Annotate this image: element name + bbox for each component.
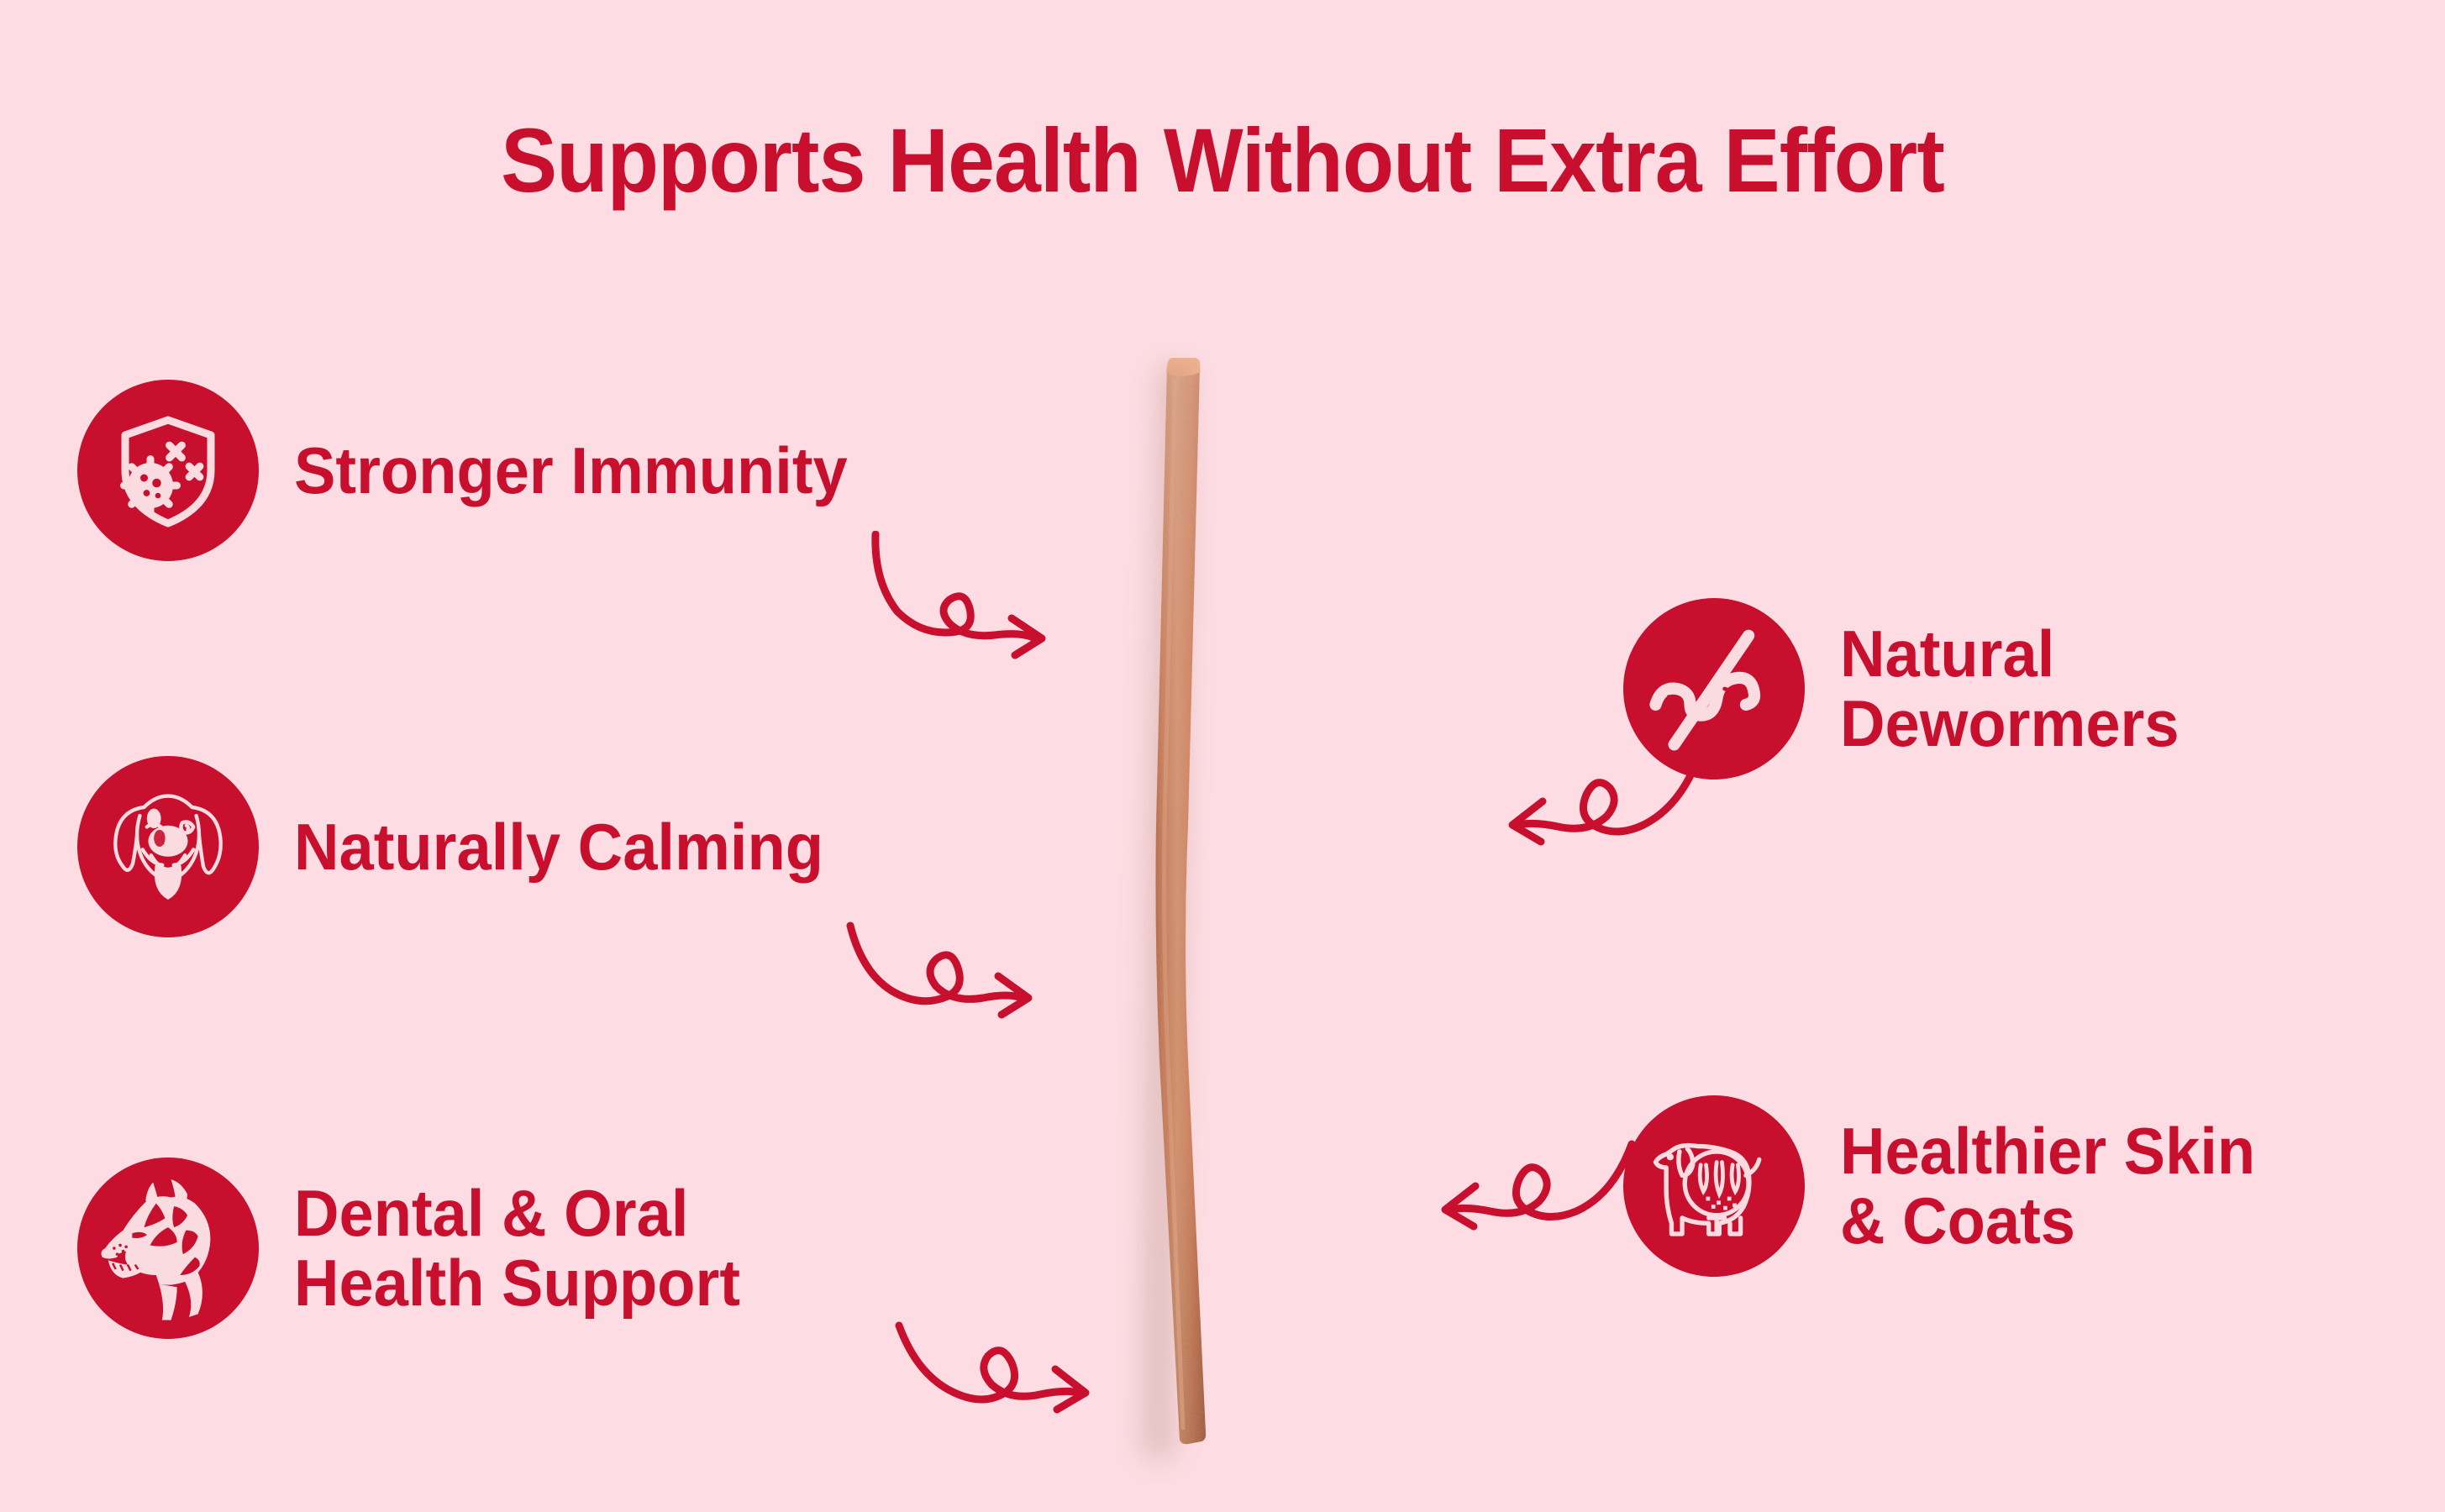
infographic-canvas: Supports Health Without Extra Effort — [0, 0, 2445, 1512]
badge-naturally-calming — [77, 756, 259, 937]
curly-arrow-right-icon — [892, 1289, 1170, 1440]
product-chew-stick — [1136, 354, 1230, 1446]
page-title: Supports Health Without Extra Effort — [86, 108, 2359, 213]
curly-arrow-right-icon — [840, 892, 1109, 1043]
feature-dental-oral-health-support[interactable]: Dental & Oral Health Support — [77, 1158, 764, 1339]
curly-arrow-left-icon — [1428, 721, 1706, 872]
feature-label: Healthier Skin & Coats — [1840, 1116, 2255, 1255]
dog-head-profile-teeth-icon — [93, 1173, 243, 1323]
feature-naturally-calming[interactable]: Naturally Calming — [77, 756, 851, 937]
feature-label: Naturally Calming — [294, 812, 823, 882]
feature-stronger-immunity[interactable]: Stronger Immunity — [77, 380, 876, 561]
dog-coat-magnifier-icon — [1648, 1120, 1780, 1252]
feature-label: Natural Dewormers — [1840, 619, 2179, 758]
shield-virus-icon — [105, 407, 231, 533]
curly-arrow-left-icon — [1361, 1102, 1638, 1253]
feature-healthier-skin-coats[interactable]: Healthier Skin & Coats — [1623, 1095, 2277, 1277]
badge-stronger-immunity — [77, 380, 259, 561]
curly-arrow-right-icon — [855, 531, 1124, 682]
badge-healthier-skin-coats — [1623, 1095, 1805, 1277]
feature-label: Stronger Immunity — [294, 436, 848, 506]
feature-label: Dental & Oral Health Support — [294, 1179, 740, 1317]
badge-dental-oral-health — [77, 1158, 259, 1339]
happy-dog-face-icon — [97, 776, 239, 917]
feature-natural-dewormers[interactable]: Natural Dewormers — [1623, 598, 2197, 780]
